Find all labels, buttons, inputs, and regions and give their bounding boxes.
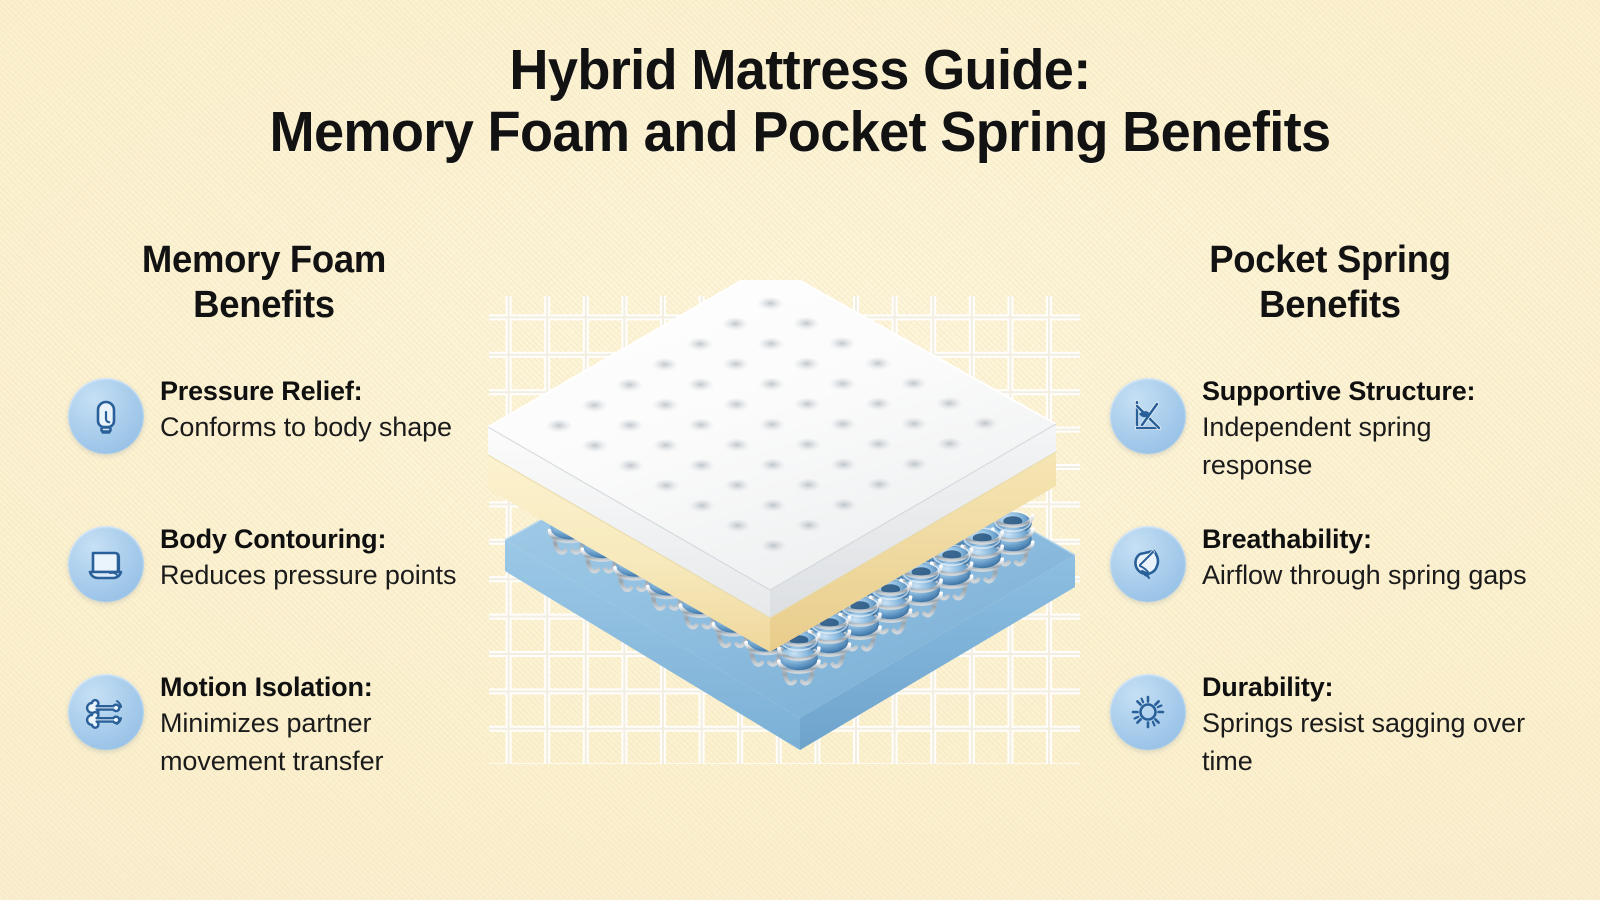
benefit-title: Motion Isolation: (160, 672, 373, 702)
memory-foam-heading: Memory Foam Benefits (70, 238, 458, 328)
benefit-text: Body Contouring: Reduces pressure points (160, 522, 468, 594)
benefit-title: Pressure Relief: (160, 376, 362, 406)
benefit-item-pressure-relief: Pressure Relief: Conforms to body shape (68, 374, 468, 454)
lightbulb-icon (68, 378, 144, 454)
benefit-title: Breathability: (1202, 524, 1372, 554)
benefit-desc: Reduces pressure points (160, 556, 468, 594)
hybrid-mattress-illustration (470, 280, 1110, 770)
benefit-item-durability: Durability: Springs resist sagging over … (1110, 670, 1540, 781)
benefit-item-supportive-structure: Supportive Structure: Independent spring… (1110, 374, 1540, 485)
infographic-poster: Hybrid Mattress Guide: Memory Foam and P… (0, 0, 1600, 900)
page-title: Hybrid Mattress Guide: Memory Foam and P… (0, 40, 1600, 163)
pocket-spring-heading: Pocket Spring Benefits (1136, 238, 1524, 328)
benefit-text: Pressure Relief: Conforms to body shape (160, 374, 468, 446)
title-line-2: Memory Foam and Pocket Spring Benefits (40, 102, 1560, 164)
motion-bones-icon (68, 674, 144, 750)
pillow-icon (68, 526, 144, 602)
benefit-desc: Conforms to body shape (160, 408, 468, 446)
benefit-title: Supportive Structure: (1202, 376, 1475, 406)
benefit-item-body-contouring: Body Contouring: Reduces pressure points (68, 522, 468, 602)
sun-durability-icon (1110, 674, 1186, 750)
benefit-title: Body Contouring: (160, 524, 386, 554)
benefit-text: Motion Isolation: Minimizes partner move… (160, 670, 468, 781)
benefit-desc: Minimizes partner movement transfer (160, 704, 468, 781)
benefit-title: Durability: (1202, 672, 1333, 702)
benefit-text: Breathability: Airflow through spring ga… (1202, 522, 1540, 594)
benefit-item-motion-isolation: Motion Isolation: Minimizes partner move… (68, 670, 468, 781)
benefit-item-breathability: Breathability: Airflow through spring ga… (1110, 522, 1540, 602)
benefit-text: Supportive Structure: Independent spring… (1202, 374, 1540, 485)
benefit-text: Durability: Springs resist sagging over … (1202, 670, 1540, 781)
easel-support-icon (1110, 378, 1186, 454)
title-line-1: Hybrid Mattress Guide: (40, 40, 1560, 102)
airflow-droplet-icon (1110, 526, 1186, 602)
benefit-desc: Airflow through spring gaps (1202, 556, 1540, 594)
benefit-desc: Springs resist sagging over time (1202, 704, 1540, 781)
benefit-desc: Independent spring response (1202, 408, 1540, 485)
